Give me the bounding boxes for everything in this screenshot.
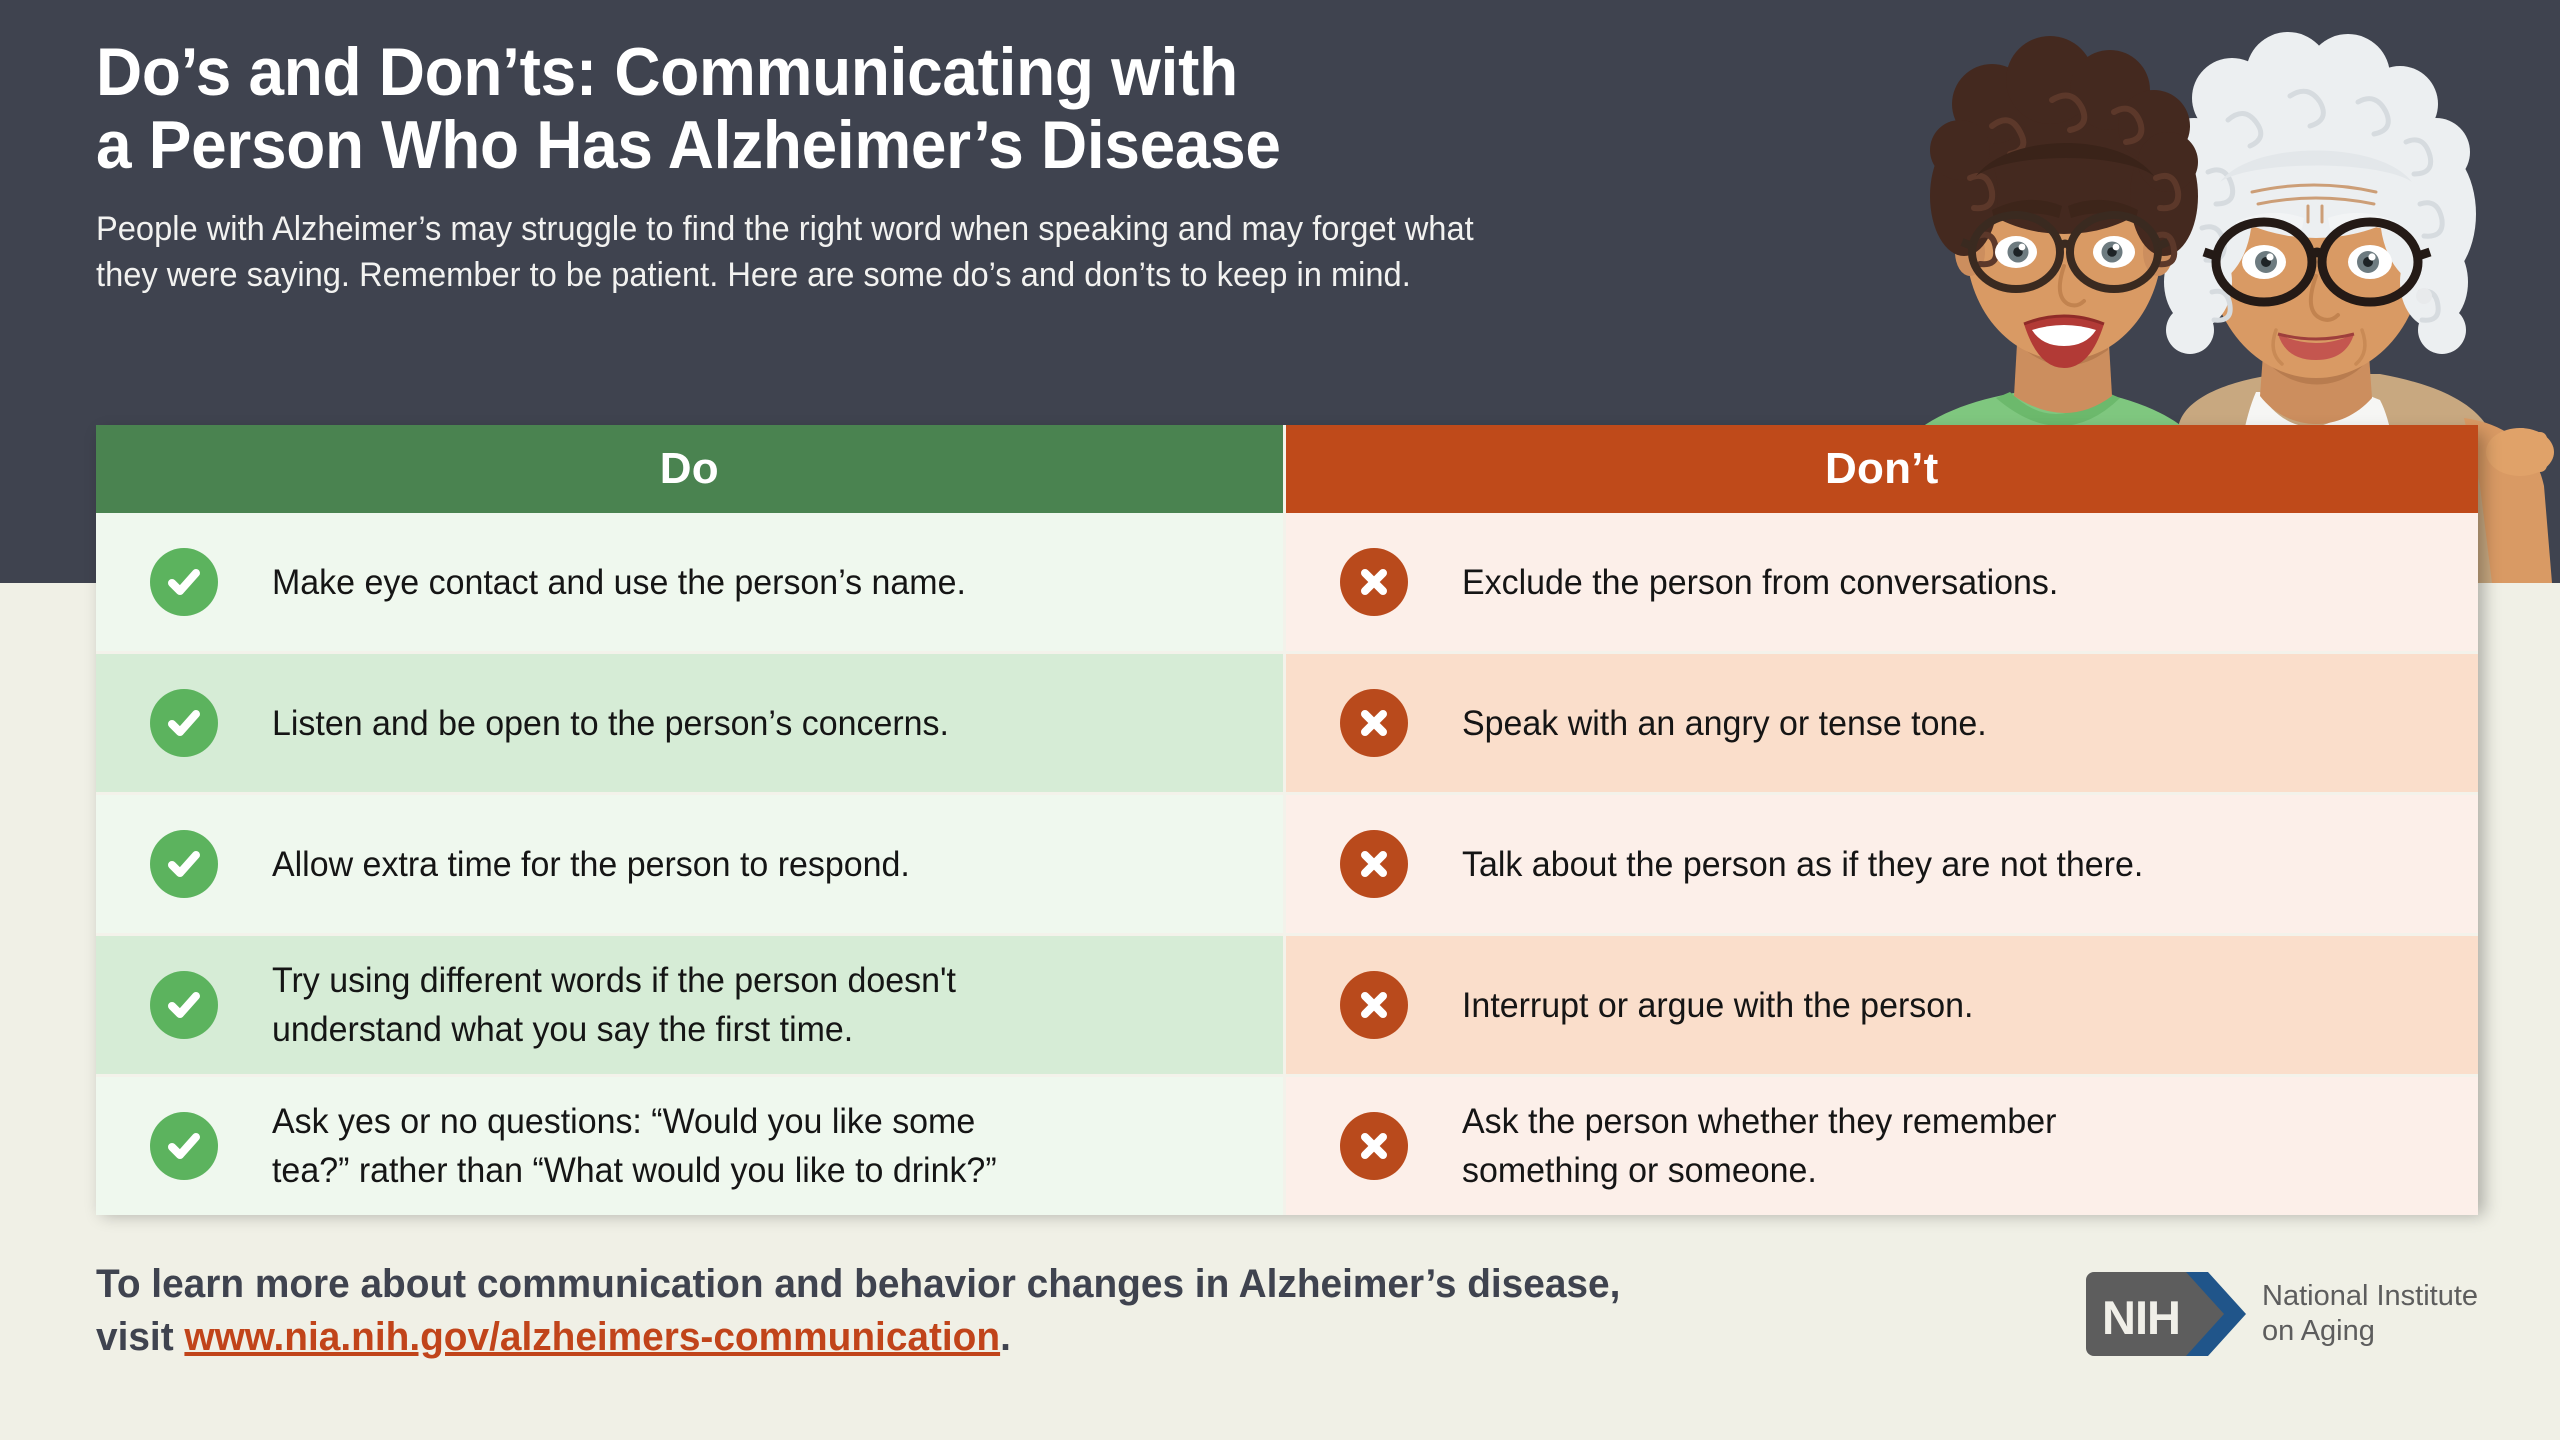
cross-circle-icon-slot	[1286, 548, 1462, 616]
cross-circle-icon	[1340, 548, 1408, 616]
page-subtitle: People with Alzheimer’s may struggle to …	[96, 206, 1891, 298]
cross-circle-icon-slot	[1286, 971, 1462, 1039]
check-circle-icon	[150, 548, 218, 616]
do-cell: Listen and be open to the person’s conce…	[96, 653, 1284, 794]
table-row: Allow extra time for the person to respo…	[96, 794, 2478, 935]
table-row: Listen and be open to the person’s conce…	[96, 653, 2478, 794]
cross-circle-icon-slot	[1286, 689, 1462, 757]
nih-mark-icon: NIH	[2086, 1272, 2246, 1356]
dont-text: Exclude the person from conversations.	[1462, 558, 2058, 607]
dont-text: Ask the person whether they remember som…	[1462, 1097, 2056, 1195]
check-circle-icon-slot	[96, 689, 272, 757]
check-circle-icon	[150, 971, 218, 1039]
svg-text:NIH: NIH	[2102, 1291, 2180, 1344]
dont-cell: Talk about the person as if they are not…	[1284, 794, 2478, 935]
dont-text: Interrupt or argue with the person.	[1462, 981, 1973, 1030]
cross-circle-icon	[1340, 689, 1408, 757]
do-cell: Try using different words if the person …	[96, 935, 1284, 1076]
nih-nia-logo: NIH National Institute on Aging	[2086, 1266, 2486, 1362]
cross-circle-icon-slot	[1286, 830, 1462, 898]
check-circle-icon	[150, 830, 218, 898]
check-circle-icon-slot	[96, 1112, 272, 1180]
dont-cell: Speak with an angry or tense tone.	[1284, 653, 2478, 794]
dont-text: Speak with an angry or tense tone.	[1462, 699, 1987, 748]
check-circle-icon	[150, 1112, 218, 1180]
table-header-row: Do Don’t	[96, 425, 2478, 513]
table-row: Ask yes or no questions: “Would you like…	[96, 1076, 2478, 1216]
column-header-dont: Don’t	[1284, 425, 2478, 513]
page-title: Do’s and Don’ts: Communicating with a Pe…	[96, 36, 1854, 182]
do-text: Try using different words if the person …	[272, 956, 956, 1054]
cross-circle-icon	[1340, 971, 1408, 1039]
header-text-block: Do’s and Don’ts: Communicating with a Pe…	[96, 36, 1966, 298]
check-circle-icon	[150, 689, 218, 757]
do-text: Allow extra time for the person to respo…	[272, 840, 910, 889]
do-cell: Ask yes or no questions: “Would you like…	[96, 1076, 1284, 1216]
do-cell: Allow extra time for the person to respo…	[96, 794, 1284, 935]
infographic-poster: Do’s and Don’ts: Communicating with a Pe…	[0, 0, 2560, 1440]
footer-line-2: visit www.nia.nih.gov/alzheimers-communi…	[96, 1311, 1939, 1364]
table-row: Make eye contact and use the person’s na…	[96, 513, 2478, 653]
do-text: Listen and be open to the person’s conce…	[272, 699, 949, 748]
table-row: Try using different words if the person …	[96, 935, 2478, 1076]
check-circle-icon-slot	[96, 830, 272, 898]
dont-cell: Interrupt or argue with the person.	[1284, 935, 2478, 1076]
nia-communication-link[interactable]: www.nia.nih.gov/alzheimers-communication	[184, 1315, 1000, 1359]
do-cell: Make eye contact and use the person’s na…	[96, 513, 1284, 653]
cross-circle-icon-slot	[1286, 1112, 1462, 1180]
footer-line-1: To learn more about communication and be…	[96, 1258, 1939, 1311]
dont-text: Talk about the person as if they are not…	[1462, 840, 2143, 889]
footer-visit-label: visit	[96, 1315, 184, 1359]
do-text: Make eye contact and use the person’s na…	[272, 558, 966, 607]
check-circle-icon-slot	[96, 548, 272, 616]
column-header-do: Do	[96, 425, 1284, 513]
cross-circle-icon	[1340, 830, 1408, 898]
cross-circle-icon	[1340, 1112, 1408, 1180]
check-circle-icon-slot	[96, 971, 272, 1039]
do-text: Ask yes or no questions: “Would you like…	[272, 1097, 997, 1195]
footer-period: .	[1000, 1315, 1011, 1359]
dont-cell: Ask the person whether they remember som…	[1284, 1076, 2478, 1216]
footer-callout: To learn more about communication and be…	[96, 1258, 1996, 1364]
do-dont-table: Do Don’t Make eye contact and use the pe…	[96, 425, 2478, 1215]
nia-agency-name: National Institute on Aging	[2262, 1279, 2478, 1350]
dont-cell: Exclude the person from conversations.	[1284, 513, 2478, 653]
